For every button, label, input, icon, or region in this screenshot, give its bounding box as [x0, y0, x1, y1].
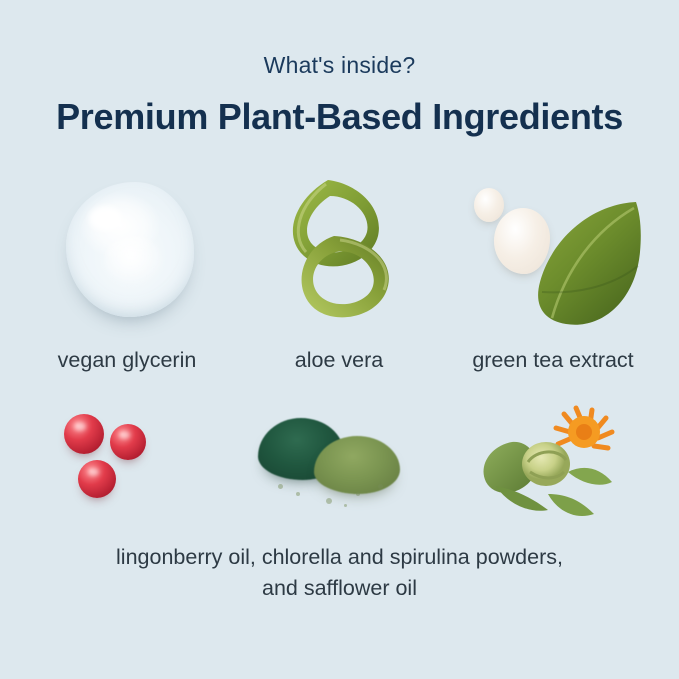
- ingredient-green-tea-extract: green tea extract: [440, 170, 666, 385]
- glycerin-drop-image: [66, 182, 194, 317]
- safflower-image: [472, 402, 622, 528]
- ingredients-row-top: vegan glycerin: [0, 170, 679, 385]
- bottom-caption: lingonberry oil, chlorella and spirulina…: [0, 542, 679, 604]
- spirulina-powder-image: [314, 436, 400, 494]
- berry-highlight: [119, 431, 130, 439]
- ingredient-label: green tea extract: [440, 348, 666, 373]
- glycerin-highlight-small: [89, 206, 122, 230]
- ingredient-lingonberry: [14, 396, 240, 536]
- bottom-caption-line2: and safflower oil: [0, 573, 679, 604]
- bottom-caption-line1: lingonberry oil, chlorella and spirulina…: [0, 542, 679, 573]
- aloe-vera-leaves-image: [274, 174, 410, 326]
- powder-speck: [326, 498, 332, 504]
- powder-speck: [378, 484, 383, 489]
- gel-drop-small: [474, 188, 504, 222]
- green-tea-leaf-and-gel-image: [468, 178, 644, 330]
- ingredients-poster: What's inside? Premium Plant-Based Ingre…: [0, 0, 679, 679]
- page-title: Premium Plant-Based Ingredients: [0, 96, 679, 138]
- berry-highlight: [88, 468, 99, 476]
- ingredient-aloe-vera: aloe vera: [226, 170, 452, 385]
- ingredients-row-bottom: [0, 396, 679, 536]
- lingonberry-image: [78, 460, 116, 498]
- powder-speck: [278, 484, 283, 489]
- glycerin-highlight: [104, 236, 163, 285]
- ingredient-label: aloe vera: [226, 348, 452, 373]
- tea-leaf-icon: [526, 194, 644, 330]
- powder-speck: [296, 492, 300, 496]
- lingonberry-image: [110, 424, 146, 460]
- powder-speck: [344, 504, 347, 507]
- lingonberry-image: [64, 414, 104, 454]
- ingredient-safflower: [440, 396, 666, 536]
- powder-speck: [356, 492, 360, 496]
- berry-highlight: [74, 422, 86, 431]
- ingredient-powders: [226, 396, 452, 536]
- eyebrow-text: What's inside?: [0, 52, 679, 79]
- ingredient-label: vegan glycerin: [14, 348, 240, 373]
- ingredient-vegan-glycerin: vegan glycerin: [14, 170, 240, 385]
